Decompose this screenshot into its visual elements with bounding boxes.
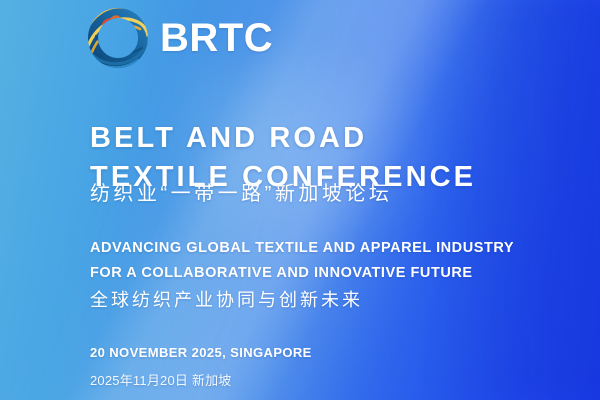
- brtc-circular-wave-logo-icon: [86, 6, 150, 70]
- brand-lockup: BRTC: [86, 6, 273, 70]
- brand-acronym: BRTC: [160, 18, 273, 58]
- subtitle-chinese: 全球纺织产业协同与创新未来: [90, 290, 363, 312]
- background-dark-band: [430, 0, 600, 400]
- subtitle: ADVANCING GLOBAL TEXTILE AND APPAREL IND…: [90, 236, 514, 286]
- subtitle-line-2: FOR A COLLABORATIVE AND INNOVATIVE FUTUR…: [90, 261, 514, 286]
- conference-poster: BRTC BELT AND ROAD TEXTILE CONFERENCE 纺织…: [0, 0, 600, 400]
- headline-line-1: BELT AND ROAD: [90, 122, 367, 154]
- event-date-location-chinese: 2025年11月20日 新加坡: [90, 370, 232, 389]
- subtitle-line-1: ADVANCING GLOBAL TEXTILE AND APPAREL IND…: [90, 240, 514, 256]
- event-date-location-english: 20 NOVEMBER 2025, SINGAPORE: [90, 345, 312, 360]
- title-chinese: 纺织业“一带一路”新加坡论坛: [90, 182, 392, 206]
